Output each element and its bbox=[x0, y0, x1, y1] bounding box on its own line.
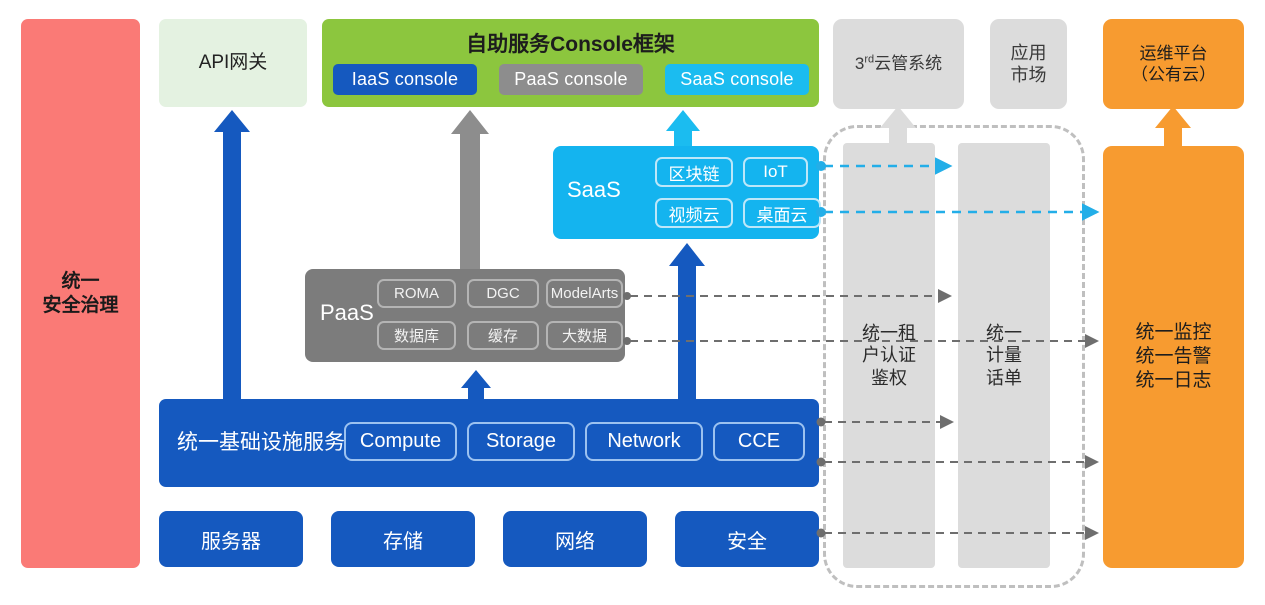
infra-service-label: Storage bbox=[486, 430, 556, 453]
ordinal-superscript: rd bbox=[864, 54, 874, 66]
paas-service-roma[interactable]: ROMA bbox=[377, 279, 456, 308]
hardware-label: 安全 bbox=[727, 525, 767, 554]
arrow-iaas-to-paas bbox=[461, 370, 491, 399]
unified-metering-column[interactable]: 统一 计量 话单 bbox=[958, 143, 1050, 568]
security-governance-panel[interactable]: 统一 安全治理 bbox=[21, 19, 140, 568]
paas-service-modelarts[interactable]: ModelArts bbox=[546, 279, 623, 308]
unified-infrastructure-panel[interactable]: 统一基础设施服务 Compute Storage Network CCE bbox=[159, 399, 819, 487]
unified-tenant-auth-label: 统一租 户认证 鉴权 bbox=[862, 322, 916, 390]
saas-panel[interactable]: SaaS 区块链 IoT 视频云 桌面云 bbox=[553, 146, 819, 239]
arrow-saas-to-saas-console bbox=[666, 110, 700, 146]
ops-platform-box[interactable]: 运维平台 （公有云） bbox=[1103, 19, 1244, 109]
app-market-label: 应用 市场 bbox=[1011, 42, 1047, 87]
paas-service-label: ROMA bbox=[394, 285, 439, 302]
paas-panel[interactable]: PaaS ROMA DGC ModelArts 数据库 缓存 大数据 bbox=[305, 269, 625, 362]
hardware-security-box[interactable]: 安全 bbox=[675, 511, 819, 567]
paas-service-label: DGC bbox=[486, 285, 519, 302]
infra-service-label: Network bbox=[607, 430, 680, 453]
paas-console-label: PaaS console bbox=[514, 69, 627, 90]
unified-infrastructure-label: 统一基础设施服务 bbox=[177, 426, 345, 456]
paas-console-chip[interactable]: PaaS console bbox=[499, 64, 643, 95]
console-framework-title: 自助服务Console框架 bbox=[322, 28, 819, 58]
unified-monitoring-label: 统一监控 统一告警 统一日志 bbox=[1135, 321, 1211, 392]
saas-console-label: SaaS console bbox=[680, 69, 793, 90]
saas-service-label: 区块链 bbox=[669, 160, 720, 185]
paas-service-dgc[interactable]: DGC bbox=[467, 279, 539, 308]
third-party-cloud-mgmt-label: 3rd云管系统 bbox=[855, 53, 942, 74]
paas-service-cache[interactable]: 缓存 bbox=[467, 321, 539, 350]
iaas-console-chip[interactable]: IaaS console bbox=[333, 64, 477, 95]
ops-platform-label: 运维平台 （公有云） bbox=[1131, 43, 1216, 86]
saas-service-label: 桌面云 bbox=[757, 201, 808, 226]
paas-service-label: ModelArts bbox=[551, 285, 619, 302]
hardware-label: 网络 bbox=[555, 525, 595, 554]
console-framework-panel[interactable]: 自助服务Console框架 IaaS console PaaS console … bbox=[322, 19, 819, 107]
hardware-label: 存储 bbox=[383, 525, 423, 554]
arrow-iaas-to-api-gateway bbox=[214, 110, 250, 399]
saas-service-label: IoT bbox=[763, 162, 788, 182]
unified-tenant-auth-column[interactable]: 统一租 户认证 鉴权 bbox=[843, 143, 935, 568]
third-party-cloud-mgmt-box[interactable]: 3rd云管系统 bbox=[833, 19, 964, 109]
infra-service-label: CCE bbox=[738, 430, 780, 453]
unified-monitoring-bar[interactable]: 统一监控 统一告警 统一日志 bbox=[1103, 146, 1244, 568]
paas-service-label: 缓存 bbox=[488, 325, 518, 346]
saas-panel-label: SaaS bbox=[567, 177, 621, 203]
paas-service-bigdata[interactable]: 大数据 bbox=[546, 321, 623, 350]
arrow-iaas-to-saas bbox=[669, 243, 705, 399]
saas-service-video-cloud[interactable]: 视频云 bbox=[655, 198, 733, 228]
arrow-paas-to-console bbox=[451, 110, 489, 269]
hardware-server-box[interactable]: 服务器 bbox=[159, 511, 303, 567]
infra-service-storage[interactable]: Storage bbox=[467, 422, 575, 461]
saas-console-chip[interactable]: SaaS console bbox=[665, 64, 809, 95]
paas-service-label: 数据库 bbox=[394, 325, 439, 346]
saas-service-blockchain[interactable]: 区块链 bbox=[655, 157, 733, 187]
architecture-diagram: 统一 安全治理 API网关 自助服务Console框架 IaaS console… bbox=[0, 0, 1265, 605]
arrow-ops-bar-to-ops-platform bbox=[1155, 106, 1191, 146]
infra-service-network[interactable]: Network bbox=[585, 422, 703, 461]
infra-service-cce[interactable]: CCE bbox=[713, 422, 805, 461]
saas-service-desktop-cloud[interactable]: 桌面云 bbox=[743, 198, 821, 228]
api-gateway-box[interactable]: API网关 bbox=[159, 19, 307, 107]
iaas-console-label: IaaS console bbox=[352, 69, 458, 90]
app-market-box[interactable]: 应用 市场 bbox=[990, 19, 1067, 109]
security-governance-label: 统一 安全治理 bbox=[42, 270, 118, 318]
unified-metering-label: 统一 计量 话单 bbox=[986, 322, 1022, 390]
saas-service-iot[interactable]: IoT bbox=[743, 157, 808, 187]
paas-panel-label: PaaS bbox=[320, 300, 374, 326]
api-gateway-label: API网关 bbox=[199, 51, 268, 75]
hardware-label: 服务器 bbox=[201, 525, 261, 554]
paas-service-label: 大数据 bbox=[562, 325, 607, 346]
infra-service-label: Compute bbox=[360, 430, 441, 453]
paas-service-database[interactable]: 数据库 bbox=[377, 321, 456, 350]
hardware-storage-box[interactable]: 存储 bbox=[331, 511, 475, 567]
hardware-network-box[interactable]: 网络 bbox=[503, 511, 647, 567]
infra-service-compute[interactable]: Compute bbox=[344, 422, 457, 461]
saas-service-label: 视频云 bbox=[669, 201, 720, 226]
